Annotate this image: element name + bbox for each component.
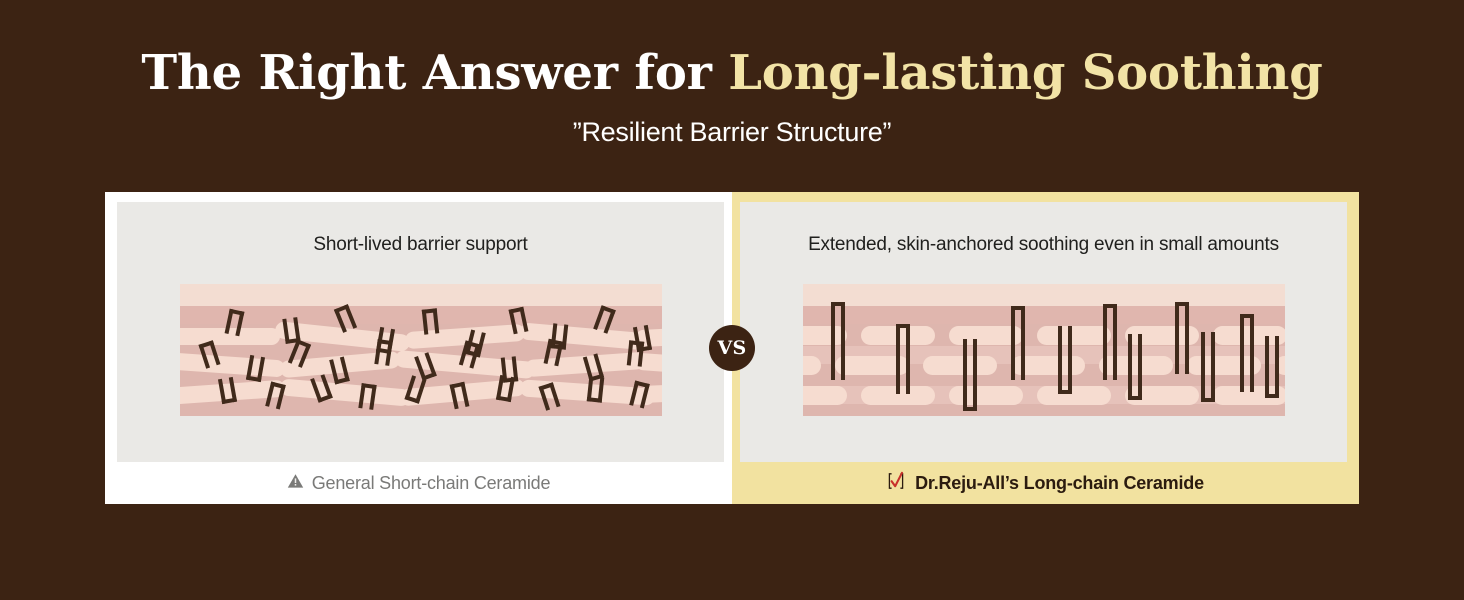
long-chain-card: Extended, skin-anchored soothing even in… <box>740 202 1347 462</box>
long-chain-footer: Dr.Reju-All’s Long-chain Ceramide <box>732 462 1359 504</box>
panel-long-chain: Extended, skin-anchored soothing even in… <box>732 192 1359 504</box>
check-box-icon <box>887 471 907 496</box>
page-title-accent: Long-lasting Soothing <box>728 45 1322 101</box>
panel-short-chain: Short-lived barrier support General Shor… <box>105 192 732 504</box>
vs-badge: VS <box>709 325 755 371</box>
short-chain-diagram <box>180 284 662 416</box>
long-chain-footer-label: Dr.Reju-All’s Long-chain Ceramide <box>915 473 1204 494</box>
short-chain-card: Short-lived barrier support <box>117 202 724 462</box>
short-chain-card-title: Short-lived barrier support <box>117 234 724 256</box>
comparison-section: Short-lived barrier support General Shor… <box>105 192 1359 504</box>
header-block: The Right Answer for Long-lasting Soothi… <box>0 0 1464 148</box>
warning-triangle-icon <box>287 473 304 494</box>
page-subtitle: ”Resilient Barrier Structure” <box>0 117 1464 148</box>
page-title: The Right Answer for Long-lasting Soothi… <box>0 47 1464 100</box>
page-title-plain: The Right Answer for <box>141 45 728 101</box>
short-chain-footer-label: General Short-chain Ceramide <box>312 473 551 494</box>
long-chain-diagram <box>803 284 1285 416</box>
short-chain-footer: General Short-chain Ceramide <box>105 462 732 504</box>
long-chain-card-title: Extended, skin-anchored soothing even in… <box>740 234 1347 256</box>
